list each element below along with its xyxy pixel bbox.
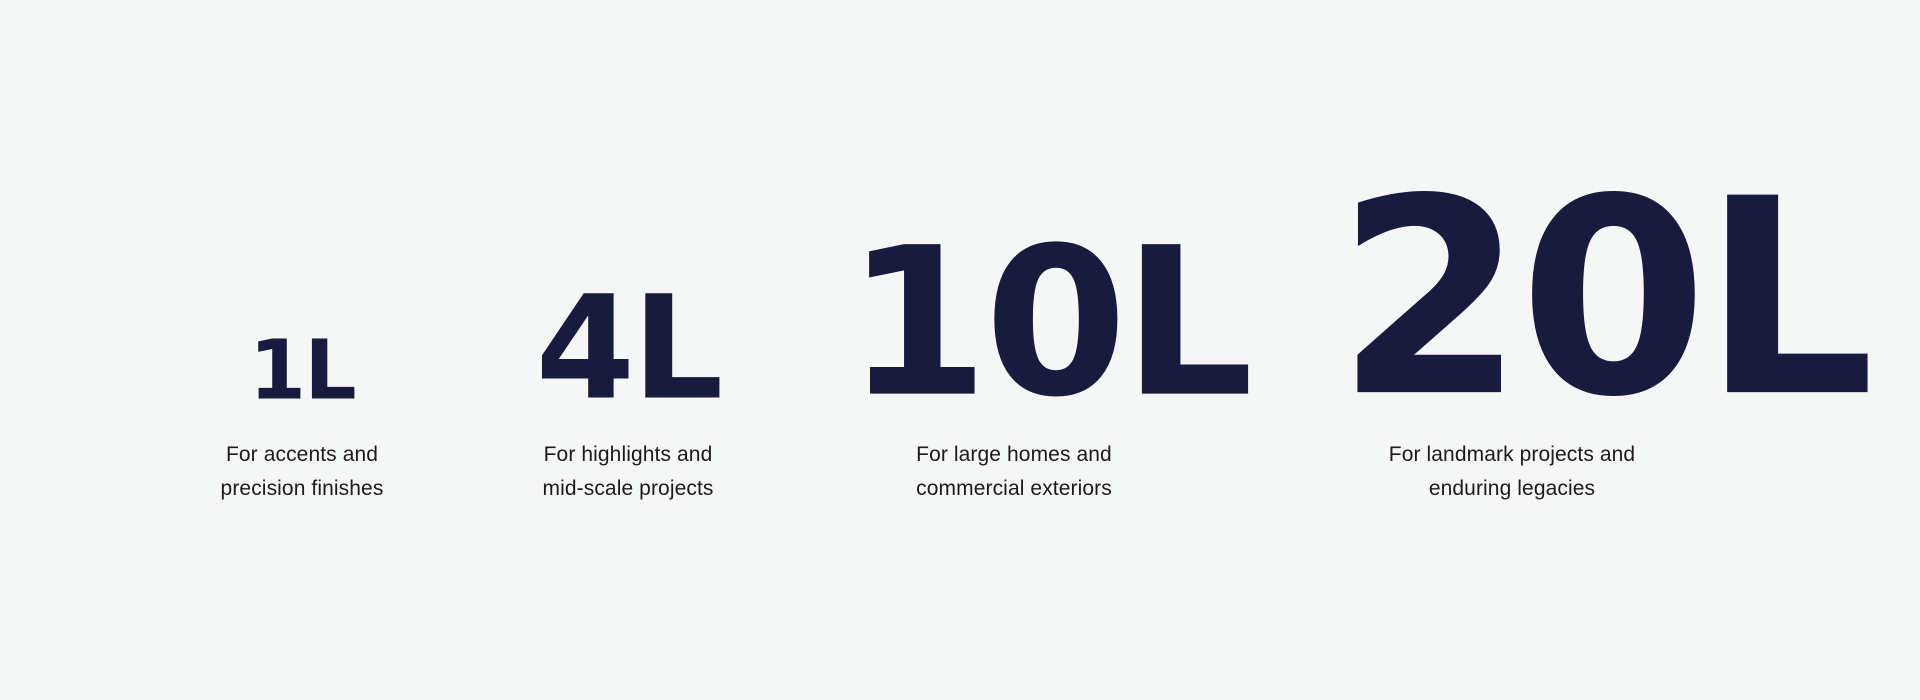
stat-value-10l: 10L: [846, 222, 1182, 427]
stat-description-line-2: mid-scale projects: [456, 472, 800, 506]
stat-description-line-1: For accents and: [130, 438, 474, 472]
stat-value-20l: 20L: [1336, 163, 1688, 434]
stat-column-4l: 4L For highlights and mid-scale projects: [468, 0, 788, 700]
stat-column-10l: 10L For large homes and commercial exter…: [846, 0, 1182, 700]
stat-description-line-2: commercial exteriors: [832, 472, 1196, 506]
stat-description-1l: For accents and precision finishes: [130, 438, 474, 506]
stat-value-4l: 4L: [468, 276, 788, 419]
stat-description-line-2: precision finishes: [130, 472, 474, 506]
size-options-board: 1L For accents and precision finishes 4L…: [0, 0, 1920, 700]
stat-description-20l: For landmark projects and enduring legac…: [1316, 438, 1708, 506]
stat-description-line-1: For highlights and: [456, 438, 800, 472]
stat-column-1l: 1L For accents and precision finishes: [142, 0, 462, 700]
stat-description-10l: For large homes and commercial exteriors: [832, 438, 1196, 506]
stat-description-4l: For highlights and mid-scale projects: [456, 438, 800, 506]
stat-description-line-2: enduring legacies: [1316, 472, 1708, 506]
stat-description-line-1: For landmark projects and: [1316, 438, 1708, 472]
stat-description-line-1: For large homes and: [832, 438, 1196, 472]
stat-value-1l: 1L: [142, 330, 462, 412]
stat-column-20l: 20L For landmark projects and enduring l…: [1336, 0, 1688, 700]
